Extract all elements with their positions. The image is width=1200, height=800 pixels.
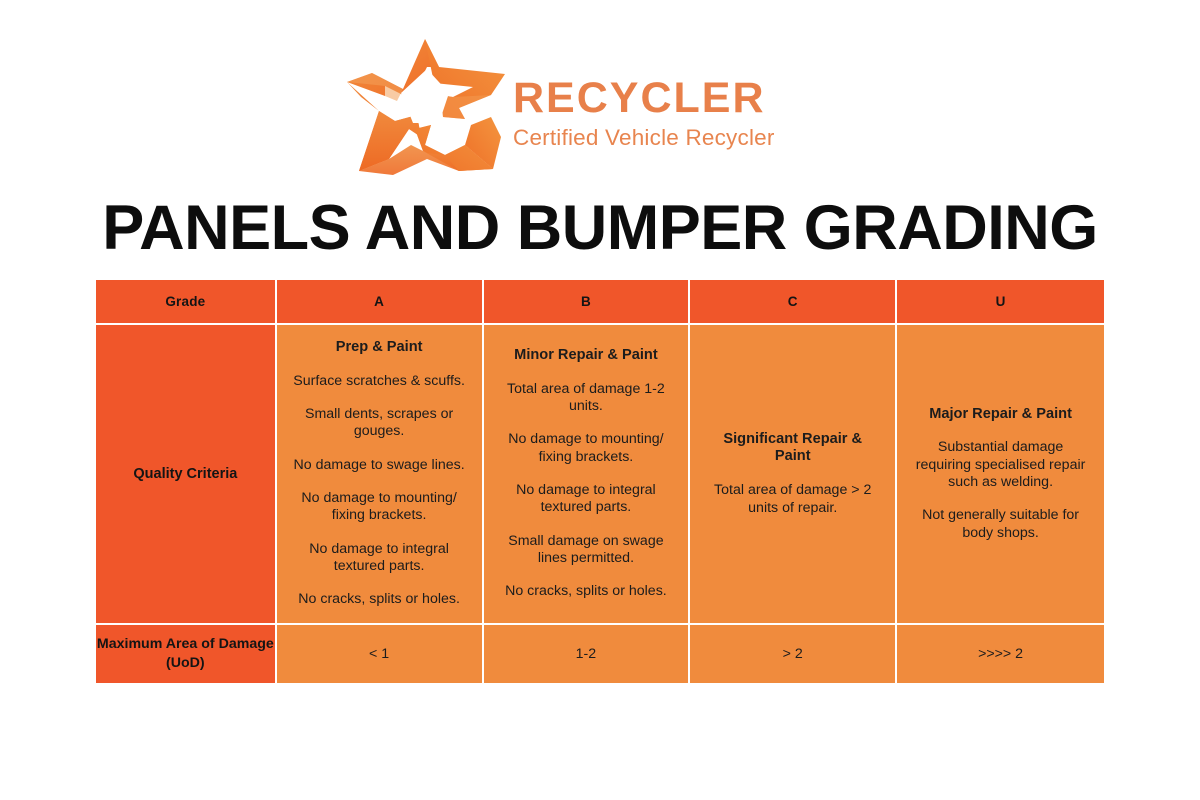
recycling-star-icon (341, 33, 513, 181)
logo-tagline: Certified Vehicle Recycler (513, 121, 775, 155)
criteria-list-a: Prep & Paint Surface scratches & scuffs.… (289, 331, 470, 617)
criteria-line: No damage to integral textured parts. (496, 474, 677, 525)
criteria-line: Not generally suitable for body shops. (909, 499, 1092, 550)
criteria-line: Surface scratches & scuffs. (289, 365, 470, 398)
table-row-maximum-area: Maximum Area of Damage (UoD) < 1 1-2 > 2… (96, 625, 1104, 683)
criteria-line: No damage to mounting/ fixing brackets. (289, 482, 470, 533)
criteria-line: No cracks, splits or holes. (496, 575, 677, 608)
criteria-line: No damage to mounting/ fixing brackets. (496, 423, 677, 474)
header-grade-b: B (484, 280, 691, 325)
row-label-quality-criteria: Quality Criteria (96, 325, 277, 625)
header-grade-u: U (897, 280, 1104, 325)
cell-max-area-b: 1-2 (484, 625, 691, 683)
criteria-heading-b: Minor Repair & Paint (496, 339, 677, 373)
logo-text-block: RECYCLER Certified Vehicle Recycler (513, 59, 775, 155)
cell-max-area-a: < 1 (277, 625, 484, 683)
row-label-maximum-area: Maximum Area of Damage (UoD) (96, 625, 277, 683)
cell-max-area-c: > 2 (690, 625, 897, 683)
cell-quality-criteria-u: Major Repair & Paint Substantial damage … (897, 325, 1104, 625)
logo-wordmark: RECYCLER (513, 77, 775, 121)
criteria-heading-a: Prep & Paint (289, 331, 470, 365)
criteria-heading-c: Significant Repair & Paint (702, 423, 883, 475)
criteria-line: Substantial damage requiring specialised… (909, 431, 1092, 499)
header-grade-label: Grade (96, 280, 277, 325)
criteria-line: Total area of damage 1-2 units. (496, 373, 677, 424)
criteria-list-u: Major Repair & Paint Substantial damage … (909, 398, 1092, 550)
brand-logo: RECYCLER Certified Vehicle Recycler (341, 33, 761, 181)
criteria-line: Small dents, scrapes or gouges. (289, 398, 470, 449)
header-grade-c: C (690, 280, 897, 325)
cell-max-area-u: >>>> 2 (897, 625, 1104, 683)
cell-quality-criteria-a: Prep & Paint Surface scratches & scuffs.… (277, 325, 484, 625)
criteria-line: Total area of damage > 2 units of repair… (702, 474, 883, 525)
cell-quality-criteria-b: Minor Repair & Paint Total area of damag… (484, 325, 691, 625)
header-grade-a: A (277, 280, 484, 325)
table-row-quality-criteria: Quality Criteria Prep & Paint Surface sc… (96, 325, 1104, 625)
cell-quality-criteria-c: Significant Repair & Paint Total area of… (690, 325, 897, 625)
criteria-heading-u: Major Repair & Paint (909, 398, 1092, 432)
slide-canvas: RECYCLER Certified Vehicle Recycler PANE… (0, 0, 1200, 800)
criteria-line: Small damage on swage lines permitted. (496, 525, 677, 576)
criteria-list-b: Minor Repair & Paint Total area of damag… (496, 339, 677, 609)
criteria-line: No cracks, splits or holes. (289, 583, 470, 616)
criteria-list-c: Significant Repair & Paint Total area of… (702, 423, 883, 525)
table-header-row: Grade A B C U (96, 280, 1104, 325)
criteria-line: No damage to swage lines. (289, 449, 470, 482)
grading-table: Grade A B C U Quality Criteria Prep & Pa… (96, 280, 1104, 683)
criteria-line: No damage to integral textured parts. (289, 533, 470, 584)
page-title: PANELS AND BUMPER GRADING (0, 194, 1200, 263)
